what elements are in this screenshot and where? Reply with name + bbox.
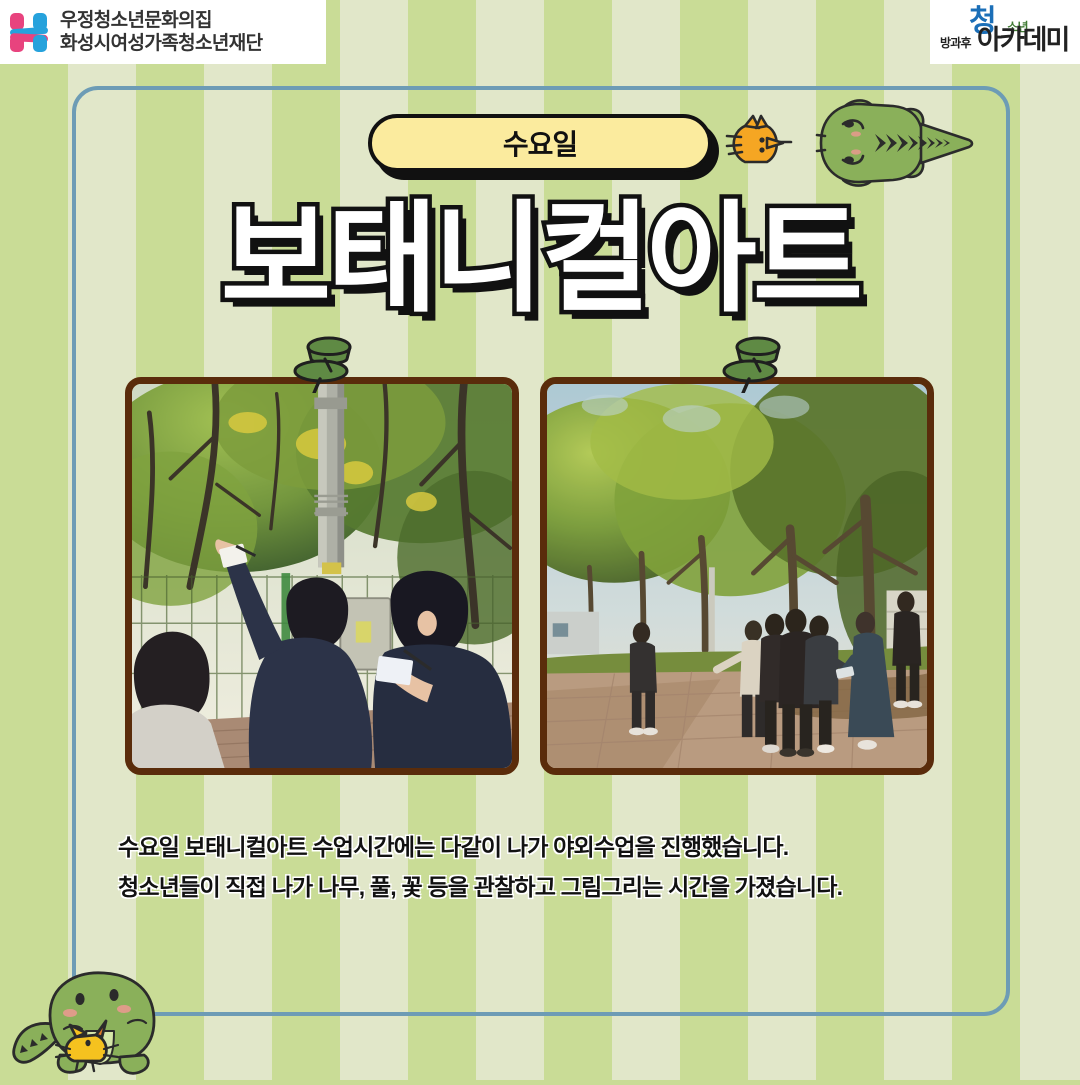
photo-students-observing-tree (125, 377, 519, 775)
description-line-2: 청소년들이 직접 나가 나무, 풀, 꽃 등을 관찰하고 그림그리는 시간을 가… (118, 868, 958, 908)
push-pin-icon-left (287, 333, 365, 393)
day-badge-label: 수요일 (503, 123, 577, 163)
description-block: 수요일 보태니컬아트 수업시간에는 다같이 나가 야외수업을 진행했습니다. 청… (118, 828, 958, 907)
organization-line1: 우정청소년문화의집 (60, 9, 263, 32)
photo-students-in-park (540, 377, 934, 775)
h-mark-logo-icon (6, 9, 52, 55)
academy-logo-right: 청 소년 방과후 아카데미 (930, 0, 1080, 64)
page-title: 보태니컬아트 (0, 196, 1080, 322)
day-badge: 수요일 (368, 114, 712, 172)
organization-line2: 화성시여성가족청소년재단 (60, 32, 263, 55)
crocodile-mascot-top (725, 88, 975, 198)
organization-logo-left: 우정청소년문화의집 화성시여성가족청소년재단 (0, 0, 326, 64)
academy-bangwahu-text: 방과후 (940, 34, 971, 51)
crocodile-mascot-bottom (8, 963, 178, 1080)
push-pin-icon-right (716, 333, 794, 393)
academy-name-text: 아카데미 (977, 27, 1068, 54)
organization-name: 우정청소년문화의집 화성시여성가족청소년재단 (60, 9, 263, 55)
description-line-1: 수요일 보태니컬아트 수업시간에는 다같이 나가 야외수업을 진행했습니다. (118, 828, 958, 868)
